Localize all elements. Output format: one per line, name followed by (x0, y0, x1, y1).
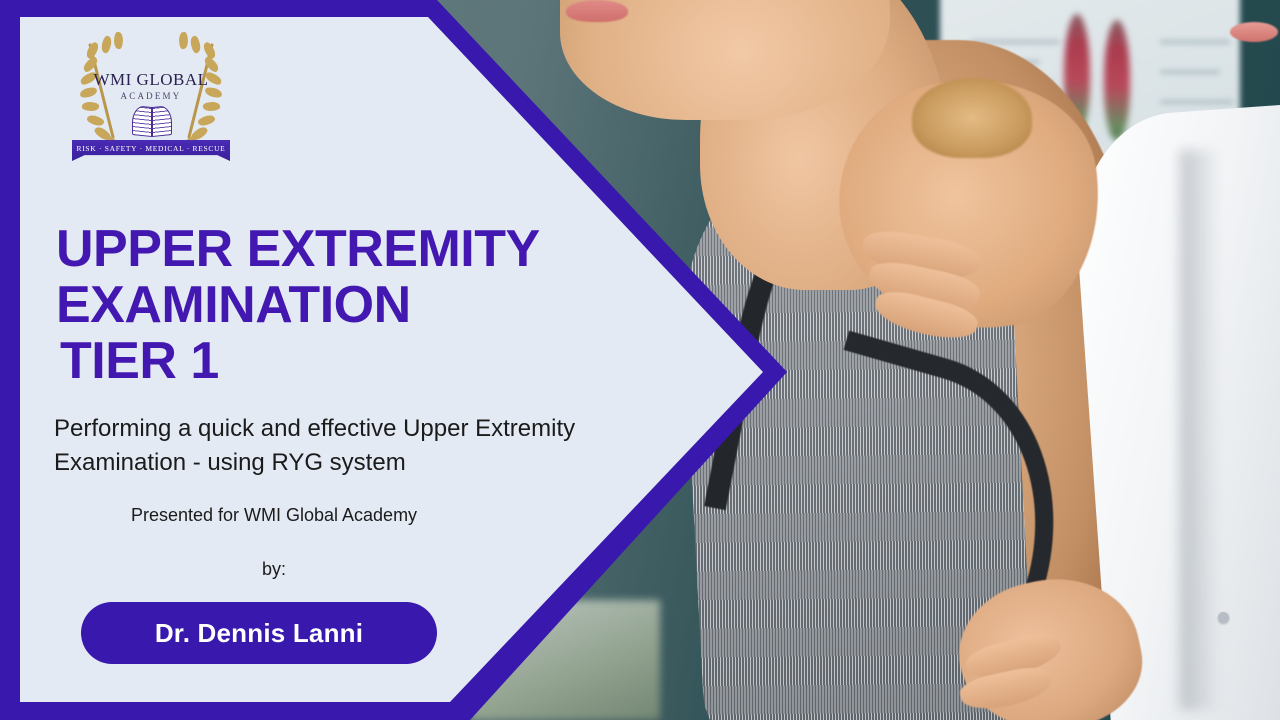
open-book-icon (132, 106, 172, 136)
logo-ribbon: RISK · SAFETY · MEDICAL · RESCUE (72, 140, 230, 161)
therapist-hand-hair (912, 78, 1032, 158)
title-line-3: TIER 1 (56, 333, 596, 389)
lab-coat-button (1218, 612, 1229, 623)
slide-content: WMI GLOBAL ACADEMY RISK · SAFETY · MEDIC… (0, 0, 620, 720)
title-line-2: EXAMINATION (56, 276, 411, 334)
presenter-name-badge[interactable]: Dr. Dennis Lanni (81, 602, 437, 664)
logo-ribbon-text: RISK · SAFETY · MEDICAL · RESCUE (77, 144, 226, 153)
page-title: UPPER EXTREMITY EXAMINATION TIER 1 (56, 221, 596, 389)
subtitle: Performing a quick and effective Upper E… (54, 412, 594, 480)
presenter-name: Dr. Dennis Lanni (155, 618, 363, 649)
therapist-lip (1230, 22, 1278, 42)
wmi-global-academy-logo: WMI GLOBAL ACADEMY RISK · SAFETY · MEDIC… (78, 28, 224, 168)
lab-coat-shadow (1180, 150, 1220, 710)
by-label: by: (54, 559, 494, 580)
logo-subtitle: ACADEMY (78, 91, 224, 101)
presentation-title-slide: WMI GLOBAL ACADEMY RISK · SAFETY · MEDIC… (0, 0, 1280, 720)
presented-for-label: Presented for WMI Global Academy (54, 505, 494, 526)
title-line-1: UPPER EXTREMITY (56, 220, 540, 278)
logo-name: WMI GLOBAL (78, 70, 224, 90)
